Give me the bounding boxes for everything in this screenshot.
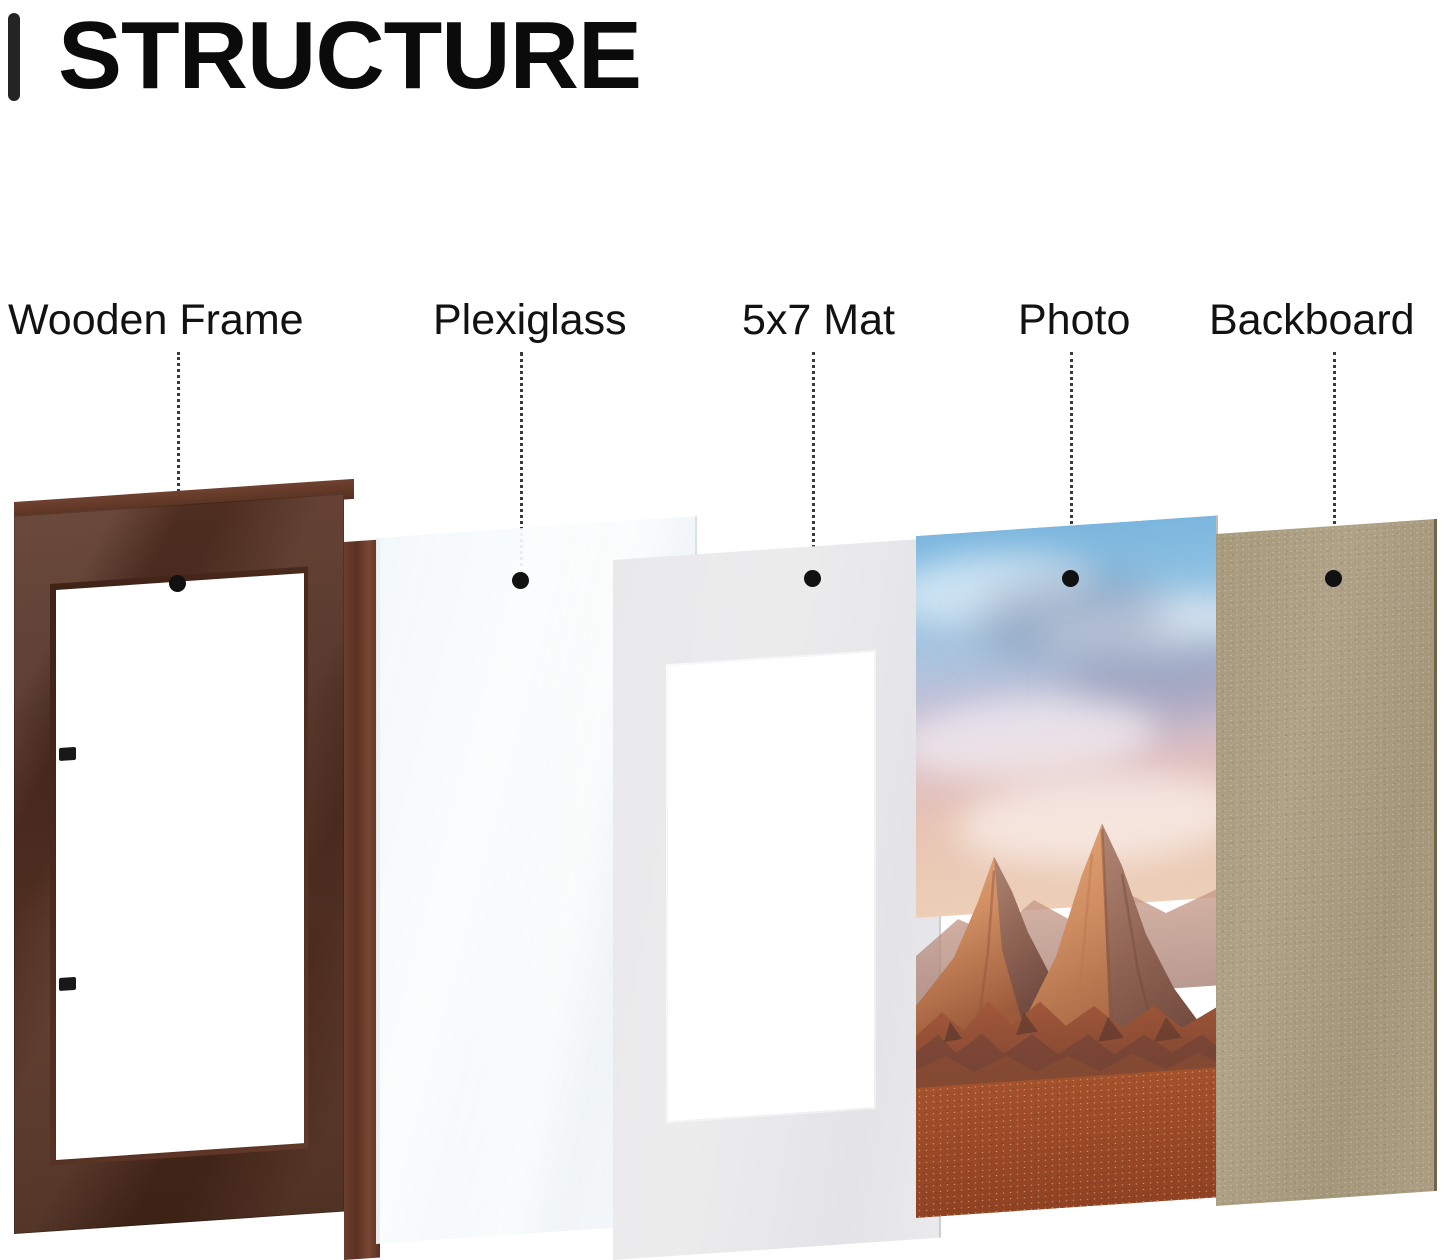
backboard-fiber-texture [1216,519,1434,1206]
label-photo: Photo [1018,296,1130,344]
leader-dot-photo [1062,570,1079,587]
label-plexiglass: Plexiglass [433,296,627,344]
frame-opening [56,573,304,1160]
frame-clip-upper [59,747,76,761]
label-mat: 5x7 Mat [742,296,895,344]
header: STRUCTURE [0,0,1445,130]
leader-dot-plexiglass [512,572,529,589]
leader-dot-wooden-frame [169,575,186,592]
page-title: STRUCTURE [58,6,641,106]
frame-side-depth [344,540,380,1260]
frame-clip-lower [59,977,76,991]
photo-ground-texture [916,1068,1216,1218]
label-wooden-frame: Wooden Frame [8,296,304,344]
leader-dot-mat [804,570,821,587]
mat-window-opening [668,652,874,1121]
title-accent-bar [8,13,20,101]
layer-backboard [1216,519,1437,1206]
structure-infographic: STRUCTURE Wooden Frame Plexiglass 5x7 Ma… [0,0,1445,1257]
leader-dot-backboard [1325,570,1342,587]
label-backboard: Backboard [1209,296,1415,344]
layer-wooden-frame [14,516,386,1256]
layer-photo [916,515,1218,1218]
layer-mat [613,538,941,1260]
leader-line-mat [812,352,815,572]
